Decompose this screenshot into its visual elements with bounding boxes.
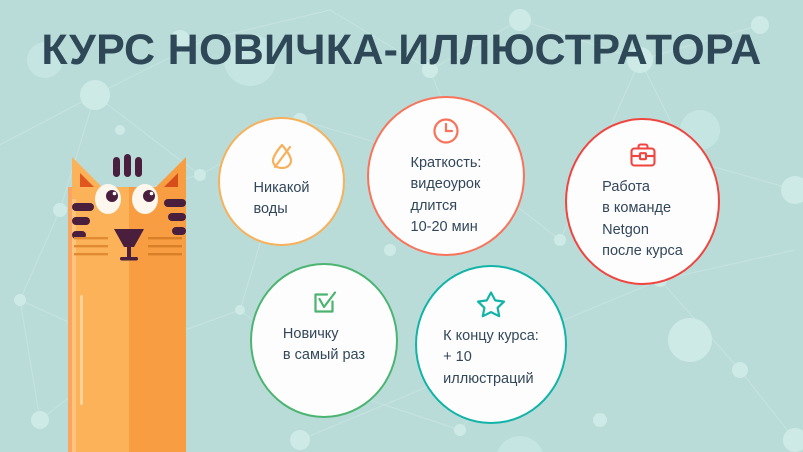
info-bubble-text: Новичку в самый раз	[283, 324, 365, 367]
info-bubble-text: Работа в команде Netgon после курса	[602, 177, 683, 262]
clock-icon	[431, 116, 461, 151]
info-bubble-team-work[interactable]: Работа в команде Netgon после курса	[565, 118, 720, 285]
info-bubble-text: Краткость: видеоурок длится 10-20 мин	[411, 153, 482, 238]
slide-canvas: КУРС НОВИЧКА-ИЛЛЮСТРАТОРА	[0, 0, 803, 452]
page-title: КУРС НОВИЧКА-ИЛЛЮСТРАТОРА	[0, 26, 803, 75]
cat-mascot	[66, 137, 192, 452]
info-bubble-brevity[interactable]: Краткость: видеоурок длится 10-20 мин	[367, 96, 525, 256]
info-bubble-no-water[interactable]: Никакой воды	[218, 117, 345, 246]
info-bubble-for-beginners[interactable]: Новичку в самый раз	[250, 263, 398, 418]
info-bubble-course-result[interactable]: К концу курса: + 10 иллюстраций	[415, 265, 567, 424]
star-icon	[475, 289, 507, 324]
info-bubble-text: Никакой воды	[254, 178, 310, 221]
info-bubble-text: К концу курса: + 10 иллюстраций	[443, 326, 539, 390]
water-drop-crossed-icon	[269, 141, 295, 176]
checkbox-check-icon	[309, 289, 339, 322]
briefcase-icon	[627, 142, 659, 175]
